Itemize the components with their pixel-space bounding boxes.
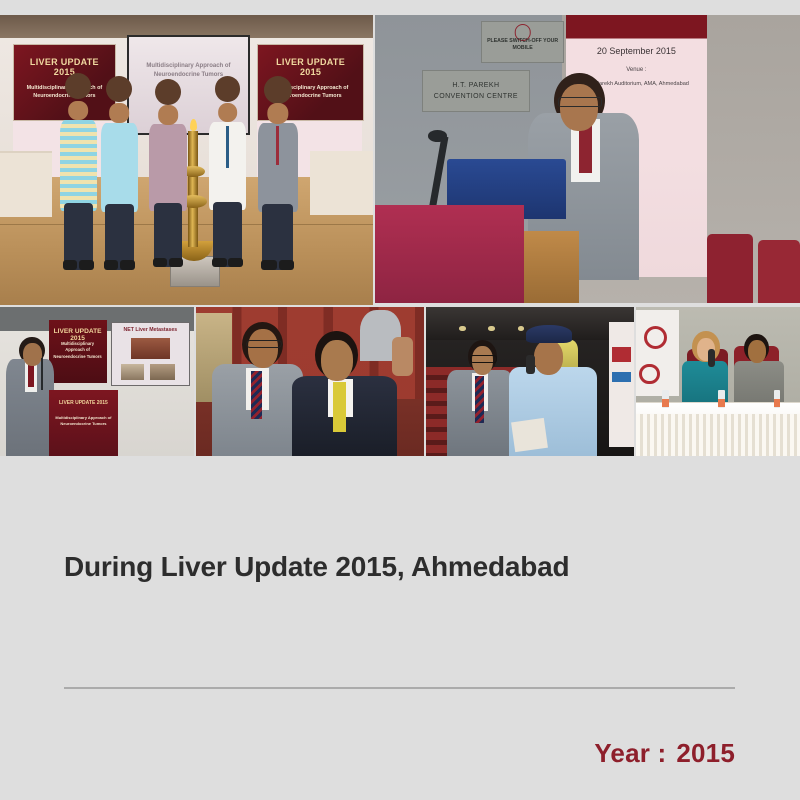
side-table-left [0, 151, 52, 217]
lectern-title: LIVER UPDATE 2015 [53, 400, 114, 406]
auditorium-chair-2 [758, 240, 800, 303]
lectern-subtitle: Multidisciplinary Approach of Neuroendoc… [53, 415, 113, 427]
seated-delegate-tie [475, 376, 484, 424]
caption-divider [64, 687, 735, 689]
slide-image-right [150, 364, 175, 380]
lecturer-tie [28, 364, 34, 388]
raised-arm [392, 337, 413, 376]
questioner-face [534, 340, 563, 375]
speaker-face [560, 84, 598, 131]
event-gallery-page: LIVER UPDATE 2015 Multidisciplinary Appr… [0, 0, 800, 800]
panel-microphone [708, 349, 715, 367]
delegate-left-tie [251, 371, 262, 419]
ceiling-light-1 [459, 326, 465, 330]
water-bottle-2 [718, 390, 725, 408]
delegate-left-face [248, 329, 278, 368]
standee-date: 20 September 2015 [575, 46, 698, 56]
water-bottle-3 [774, 390, 781, 408]
side-table-right [310, 151, 373, 215]
sponsor-logo-secondary [612, 372, 632, 382]
venue-name-sign: H.T. PAREKH CONVENTION CENTRE [422, 70, 530, 112]
questioner-turban [526, 325, 572, 343]
lamp-lighting-ceremony-photo[interactable]: LIVER UPDATE 2015 Multidisciplinary Appr… [0, 15, 373, 305]
person-blue-shirt [97, 76, 142, 270]
podium-wood-panel [520, 231, 580, 303]
right-banner-title: LIVER UPDATE 2015 [265, 57, 357, 77]
person-striped-shirt [56, 73, 101, 270]
year-value: 2015 [676, 738, 735, 768]
sponsor-banner-standee [636, 310, 679, 396]
ceiling-light-2 [488, 326, 494, 330]
table-skirt [636, 414, 800, 456]
delegate-right-face [321, 340, 353, 381]
mobile-off-sign-text: PLEASE SWITCH-OFF YOUR MOBILE [485, 38, 559, 53]
sponsor-roundel-lower-icon [639, 364, 659, 384]
ceiling-light-3 [518, 326, 524, 330]
event-caption-title: During Liver Update 2015, Ahmedabad [64, 550, 754, 584]
water-bottle-1 [662, 390, 669, 408]
branded-lectern: LIVER UPDATE 2015 Multidisciplinary Appr… [49, 390, 119, 456]
lecturer-face [23, 343, 41, 366]
photo-collage: LIVER UPDATE 2015 Multidisciplinary Appr… [0, 15, 800, 456]
lamp-flame [190, 119, 197, 131]
lectern-microphone [41, 358, 44, 391]
venue-name-sign-text: H.T. PAREKH CONVENTION CENTRE [427, 81, 525, 102]
panelist-man-face [748, 340, 766, 363]
delegate-left-glasses [246, 340, 282, 349]
projected-slide: NET Liver Metastases [111, 322, 191, 387]
handout-paper [511, 418, 548, 452]
standee-venue-label: Venue : [575, 67, 698, 73]
speaker-glasses [558, 97, 603, 106]
handheld-microphone [526, 355, 535, 374]
panel-discussion-photo[interactable] [636, 307, 800, 456]
lecture-presentation-photo[interactable]: LIVER UPDATE 2015 Multidisciplinary Appr… [0, 307, 194, 456]
delegates-smiling-photo[interactable] [196, 307, 424, 456]
delegate-right-tie [333, 382, 347, 433]
backdrop-banner-subtitle: Multidisciplinary Approach of Neuroendoc… [52, 341, 103, 360]
audience-question-photo[interactable] [426, 307, 634, 456]
person-white-shirt-tie [205, 76, 250, 267]
seated-delegate-glasses [470, 355, 497, 363]
slide-title: NET Liver Metastases [115, 327, 186, 333]
backdrop-banner-title: LIVER UPDATE 2015 [51, 328, 103, 342]
sponsor-logo-primary [612, 347, 632, 362]
podium-speaker-photo[interactable]: PLEASE SWITCH-OFF YOUR MOBILE H.T. PAREK… [375, 15, 800, 303]
mobile-off-sign: PLEASE SWITCH-OFF YOUR MOBILE [481, 21, 564, 63]
sponsor-standee [609, 322, 634, 447]
slide-image-left [121, 364, 144, 380]
sponsor-roundel-upper-icon [644, 326, 667, 349]
slide-image-main [131, 338, 170, 359]
year-label: Year : [594, 738, 666, 768]
stage-backdrop-banner: LIVER UPDATE 2015 Multidisciplinary Appr… [49, 320, 107, 383]
maroon-podium [375, 205, 524, 303]
person-lavender-shirt [145, 79, 190, 268]
person-grey-suit [254, 76, 302, 270]
auditorium-chair-1 [707, 234, 754, 303]
event-year-line: Year :2015 [64, 738, 735, 769]
